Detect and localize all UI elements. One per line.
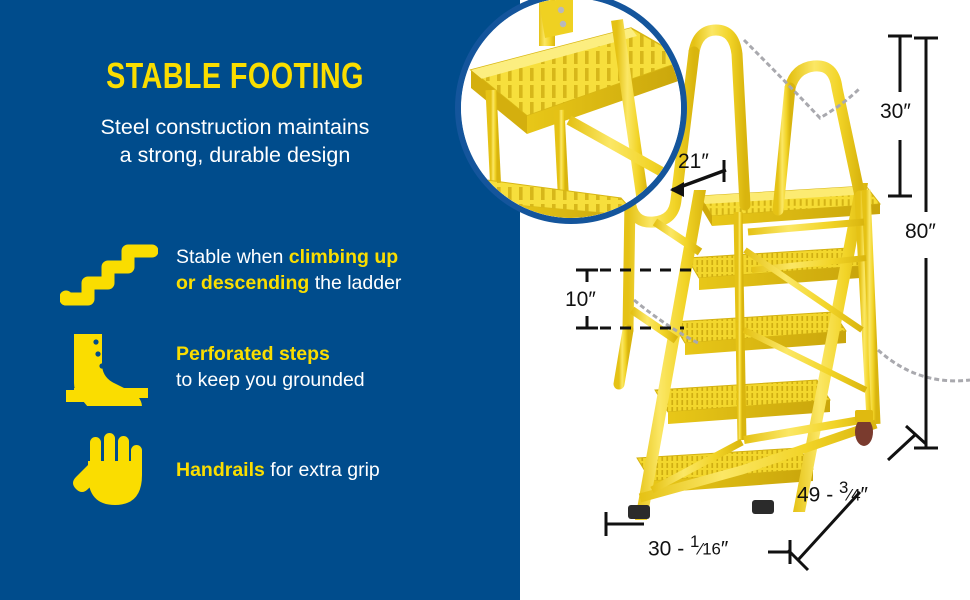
base-depth-numerator: 3 <box>839 478 848 497</box>
base-width-denominator: 16 <box>702 540 721 559</box>
rubber-foot-left <box>628 505 650 519</box>
base-depth-denominator: 4 <box>851 486 860 505</box>
base-width-whole: 30 - <box>648 538 690 561</box>
base-depth-whole: 49 - <box>797 484 839 507</box>
infographic-root: 30″ 80″ 21″ 10″ 49 - 3⁄4″ 30 - 1⁄16″ STA… <box>0 0 970 600</box>
base-width-unit: ″ <box>721 538 728 561</box>
dimension-label-10: 10″ <box>565 288 596 312</box>
inset-closeup-illustration <box>461 0 681 218</box>
dimension-label-base-depth: 49 - 3⁄4″ <box>797 478 868 508</box>
inset-ring-border <box>455 0 687 224</box>
base-width-fraction: 1⁄16 <box>690 532 721 560</box>
dimension-label-21: 21″ <box>678 150 709 174</box>
base-width-numerator: 1 <box>690 532 699 551</box>
dimension-label-base-width: 30 - 1⁄16″ <box>648 532 728 562</box>
rubber-foot-right <box>752 500 774 514</box>
platform-closeup-inset <box>455 0 687 224</box>
base-depth-fraction: 3⁄4 <box>839 478 861 506</box>
dimension-label-80: 80″ <box>905 220 936 244</box>
dimension-label-30: 30″ <box>880 100 911 124</box>
caster-wheel <box>855 418 873 446</box>
base-depth-unit: ″ <box>861 484 868 507</box>
